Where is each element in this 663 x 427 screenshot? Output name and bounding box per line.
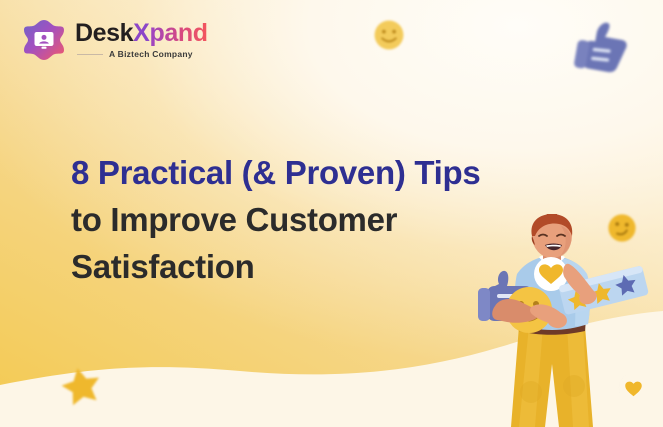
- banner-canvas: Desk X pand A Biztech Company 8 Practica…: [0, 0, 663, 427]
- brand-tagline: A Biztech Company: [109, 50, 193, 59]
- smiley-face-icon: [372, 18, 406, 52]
- brand-wordmark-block: Desk X pand A Biztech Company: [75, 21, 208, 59]
- wordmark-x: X: [133, 21, 149, 46]
- wordmark-desk: Desk: [75, 21, 133, 46]
- person-holding-feedback-icons-illustration: [473, 214, 663, 427]
- thumbs-up-icon: [562, 7, 645, 90]
- title-line-1: 8 Practical (& Proven) Tips: [71, 150, 591, 197]
- brand-logo[interactable]: Desk X pand A Biztech Company: [22, 18, 208, 62]
- tagline-rule: [77, 54, 103, 55]
- star-icon: [60, 364, 102, 406]
- wordmark-pand: pand: [149, 21, 207, 46]
- deskxpand-x-mark-icon: [22, 18, 66, 62]
- brand-tagline-row: A Biztech Company: [75, 50, 208, 59]
- brand-wordmark: Desk X pand: [75, 21, 208, 46]
